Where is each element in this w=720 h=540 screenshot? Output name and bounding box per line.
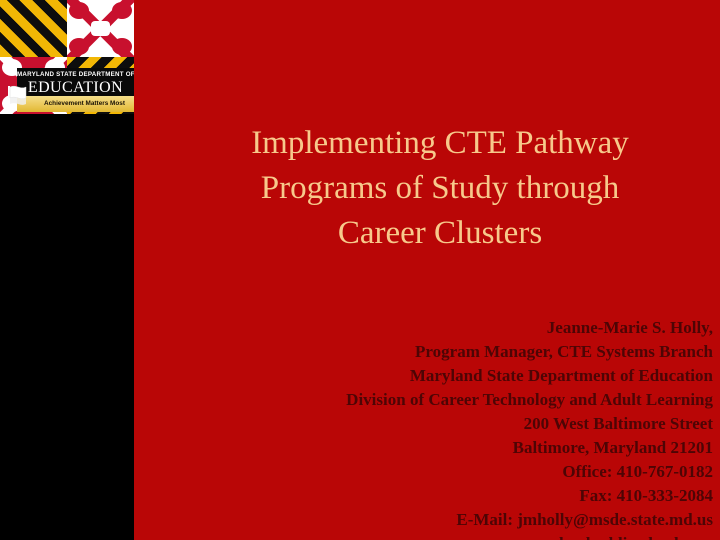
logo-tagline-text: Achievement Matters Most [39, 96, 130, 112]
flag-quadrant-top-left [0, 0, 67, 57]
waving-flag-ribbon-icon [6, 84, 28, 114]
logo-tagline-banner: Achievement Matters Most [17, 96, 134, 112]
contact-job-title: Program Manager, CTE Systems Branch [153, 340, 713, 364]
contact-division: Division of Career Technology and Adult … [153, 388, 713, 412]
flag-quadrant-top-right [67, 0, 134, 57]
contact-office-phone: Office: 410-767-0182 [153, 460, 713, 484]
contact-presenter-name: Jeanne-Marie S. Holly, [153, 316, 713, 340]
logo-nameplate: MARYLAND STATE DEPARTMENT OF EDUCATION [17, 68, 134, 96]
msde-logo: MARYLAND STATE DEPARTMENT OF EDUCATION A… [0, 0, 134, 114]
logo-education-wordmark: EDUCATION [17, 79, 134, 96]
contact-fax-number: Fax: 410-333-2084 [153, 484, 713, 508]
title-line-3: Career Clusters [170, 211, 710, 256]
logo-department-line: MARYLAND STATE DEPARTMENT OF [17, 68, 134, 79]
slide-title: Implementing CTE Pathway Programs of Stu… [170, 121, 710, 256]
contact-city-state-zip: Baltimore, Maryland 21201 [153, 436, 713, 460]
contact-website-url[interactable]: www.marylandpublicschools.org [153, 532, 713, 540]
contact-email-address: E-Mail: jmholly@msde.state.md.us [153, 508, 713, 532]
title-line-1: Implementing CTE Pathway [170, 121, 710, 166]
presentation-slide: MARYLAND STATE DEPARTMENT OF EDUCATION A… [0, 0, 720, 540]
title-line-2: Programs of Study through [170, 166, 710, 211]
contact-organization: Maryland State Department of Education [153, 364, 713, 388]
presenter-contact-block: Jeanne-Marie S. Holly, Program Manager, … [153, 316, 713, 540]
contact-street-address: 200 West Baltimore Street [153, 412, 713, 436]
